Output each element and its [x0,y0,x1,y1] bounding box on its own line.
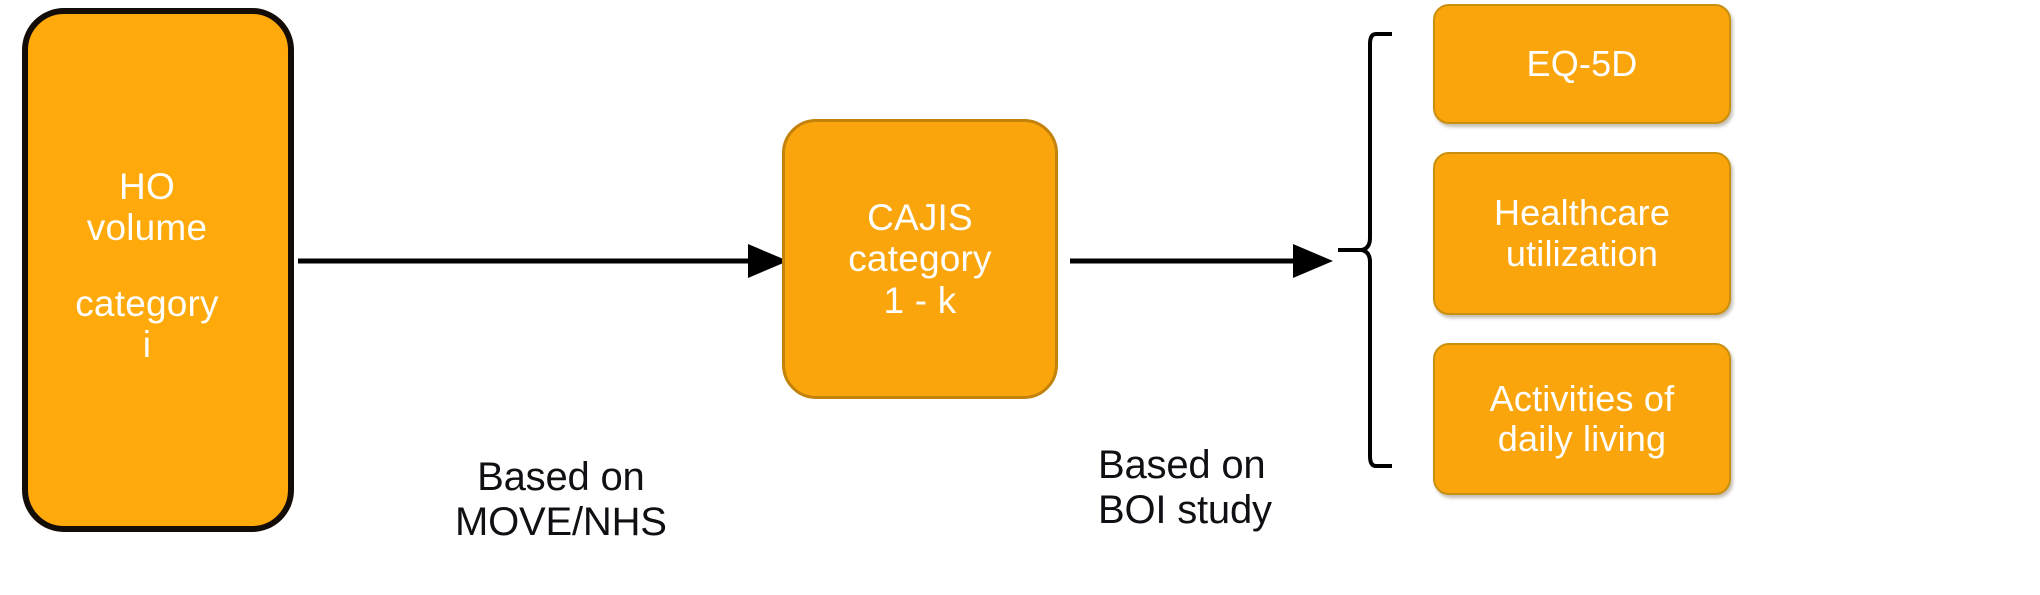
diagram-canvas: HO volume category i CAJIS category 1 - … [0,0,2040,595]
node-eq-5d-line-1: EQ-5D [1526,44,1637,84]
outcomes-brace [1330,30,1400,470]
node-cajis-line-1: CAJIS [867,197,973,238]
node-ho-line-3: category [75,283,219,324]
node-activities-of-daily-living[interactable]: Activities of daily living [1433,343,1731,495]
node-cajis-category[interactable]: CAJIS category 1 - k [782,119,1058,399]
node-ho-volume-category-text: HO volume category i [28,166,266,366]
node-ho-line-2: volume [87,207,207,248]
caption-based-on-boi-study: Based on BOI study [1098,443,1272,533]
node-healthcare-utilization-line-2: utilization [1506,234,1658,274]
node-healthcare-utilization-line-1: Healthcare [1494,193,1670,233]
node-activities-of-daily-living-line-2: daily living [1498,419,1666,459]
arrow-middle-to-outcomes [1068,236,1333,286]
node-ho-line-4: i [143,324,151,365]
node-eq-5d[interactable]: EQ-5D [1433,4,1731,124]
node-activities-of-daily-living-line-1: Activities of [1490,379,1675,419]
node-healthcare-utilization[interactable]: Healthcare utilization [1433,152,1731,315]
node-cajis-line-2: category [848,238,992,279]
node-ho-volume-category[interactable]: HO volume category i [22,8,294,532]
caption-based-on-move-nhs: Based on MOVE/NHS [455,455,667,545]
arrow-source-to-middle [296,236,786,286]
node-cajis-line-3: 1 - k [884,280,957,321]
node-ho-line-1: HO [119,166,175,207]
